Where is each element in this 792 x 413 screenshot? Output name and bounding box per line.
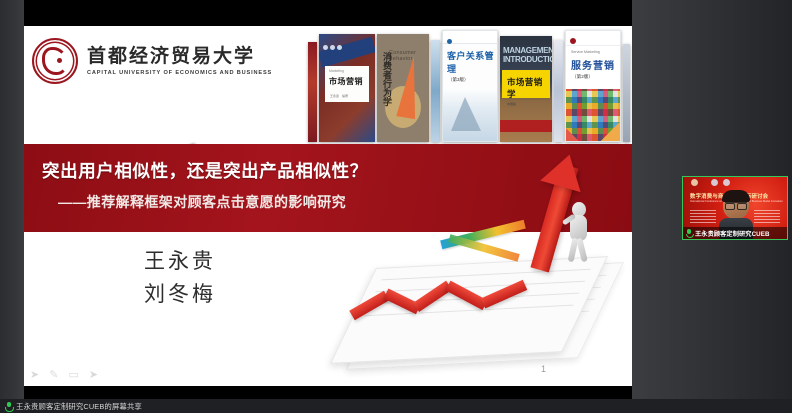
book-subtitle: MANAGEMENT INTRODUCTION [503, 46, 552, 64]
slide-title: 突出用户相似性，还是突出产品相似性？ [42, 158, 368, 183]
book-subtitle: Marketing [329, 69, 369, 73]
author-name: 刘冬梅 [144, 279, 216, 312]
author-list: 王永贵 刘冬梅 [144, 246, 216, 311]
participant-name-bar: 王永贵顾客定制研究CUEB [683, 227, 787, 239]
pen-icon[interactable]: ✎ [49, 368, 58, 381]
growth-arrow-illustration [348, 158, 598, 384]
slide-header: 首都经济贸易大学 CAPITAL UNIVERSITY OF ECONOMICS… [24, 26, 632, 144]
book-cover-consumer-behavior: Consumer Behavior 消费者行为学 [377, 34, 429, 142]
book-cover-crm: 客户关系管理 （第3版） [442, 30, 498, 142]
book-spine [308, 42, 317, 142]
university-seal-icon [32, 38, 78, 84]
screen-share-status-bar: 王永贵顾客定制研究CUEB的屏幕共享 [0, 399, 792, 413]
university-name-en: CAPITAL UNIVERSITY OF ECONOMICS AND BUSI… [87, 70, 272, 76]
participant-name: 王永贵顾客定制研究CUEB [695, 229, 770, 238]
zoom-screen-share-window: 首都经济贸易大学 CAPITAL UNIVERSITY OF ECONOMICS… [0, 0, 792, 413]
book-cover-row: Marketing 市场营销 王永贵 编著 Consumer Behavior … [308, 30, 630, 142]
microphone-icon [5, 402, 12, 411]
slide-subtitle: ——推荐解释框架对顾客点击意愿的影响研究 [58, 192, 346, 212]
top-letterbox [24, 0, 632, 26]
slide-body: 王永贵 刘冬梅 1 ➤ ✎ ▭ ➤ [24, 232, 632, 386]
pointer-icon[interactable]: ➤ [30, 368, 39, 381]
book-cover-marketing-management: MANAGEMENT INTRODUCTION 市场营销学 中国版 [500, 36, 552, 142]
author-name: 王永贵 [144, 246, 216, 279]
participant-video-tile[interactable]: 数字消费与商业创新国际研讨会 International Conference … [682, 176, 788, 240]
university-logo: 首都经济贸易大学 CAPITAL UNIVERSITY OF ECONOMICS… [32, 38, 272, 84]
book-edition: （第3版） [448, 77, 497, 83]
book-cover-service-marketing: Service Marketing 服务营销 （第2版） [565, 30, 621, 142]
annotation-toolbar[interactable]: ➤ ✎ ▭ ➤ [30, 368, 98, 381]
microphone-icon [686, 229, 692, 237]
book-subtitle: Consumer Behavior [389, 50, 429, 62]
university-name-cn: 首都经济贸易大学 [87, 46, 272, 67]
book-title: 客户关系管理 [447, 49, 497, 75]
share-indicator-label: 王永贵顾客定制研究CUEB的屏幕共享 [16, 401, 142, 412]
laser-icon[interactable]: ➤ [89, 368, 98, 381]
book-subtitle: Service Marketing [571, 50, 620, 54]
book-edition: 中国版 [507, 102, 550, 106]
book-author: 王永贵 编著 [330, 94, 369, 98]
eraser-icon[interactable]: ▭ [68, 368, 78, 381]
book-title: 消费者行为学 [381, 52, 394, 106]
book-spine [623, 44, 630, 142]
book-spine [431, 40, 440, 142]
book-title: 市场营销学 [507, 76, 550, 100]
figure-pushing-arrow [566, 202, 592, 264]
book-title: 服务营销 [571, 57, 620, 72]
book-edition: （第2版） [572, 74, 620, 80]
slide-page-number: 1 [541, 364, 546, 374]
left-gutter [0, 0, 24, 413]
book-cover-marketing: Marketing 市场营销 王永贵 编著 [319, 34, 375, 142]
book-spine [554, 40, 563, 142]
shared-slide[interactable]: 首都经济贸易大学 CAPITAL UNIVERSITY OF ECONOMICS… [24, 26, 632, 386]
book-title: 市场营销 [329, 76, 369, 87]
